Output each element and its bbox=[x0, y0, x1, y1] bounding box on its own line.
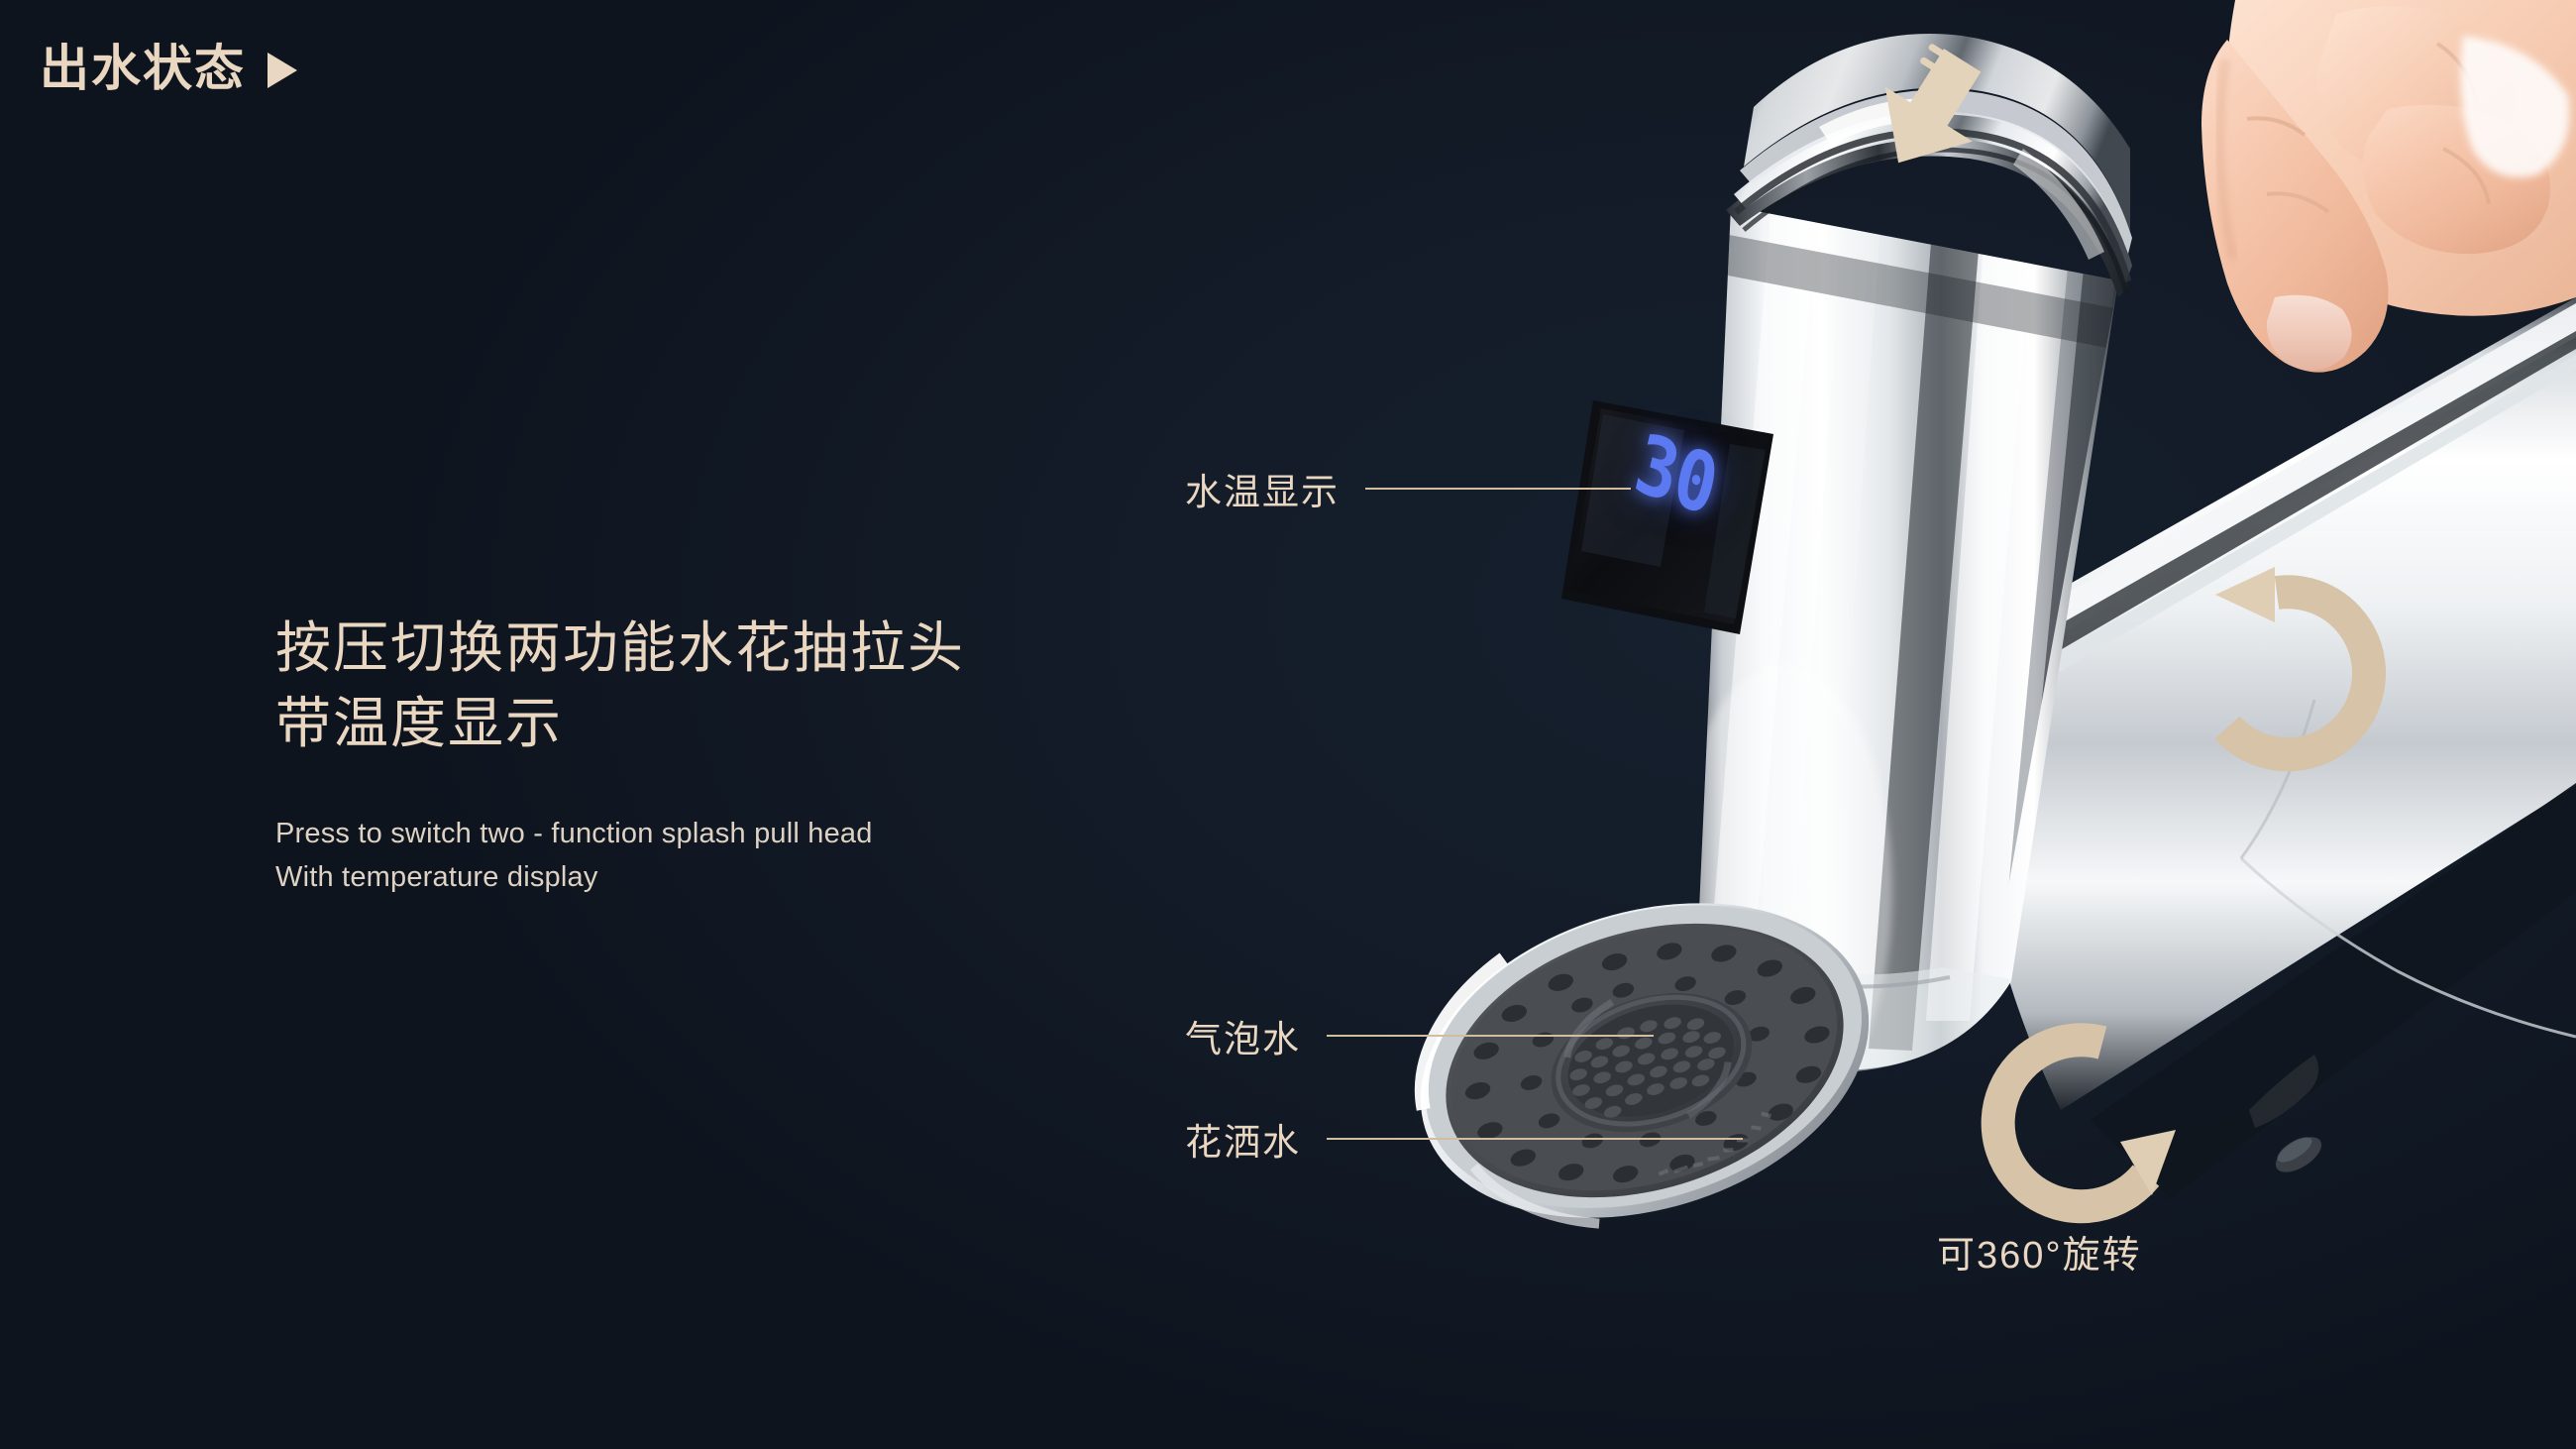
leader-line bbox=[1327, 1035, 1654, 1037]
subhead-en-line2: With temperature display bbox=[275, 855, 1147, 899]
callout-shower-water: 花洒水 bbox=[1185, 1112, 1743, 1166]
leader-line bbox=[1365, 488, 1631, 490]
callout-shower-water-label: 花洒水 bbox=[1185, 1112, 1301, 1166]
play-triangle-icon bbox=[268, 53, 297, 88]
feature-copy-block: 按压切换两功能水花抽拉头 带温度显示 Press to switch two -… bbox=[275, 611, 1147, 899]
product-feature-slide: 30 出水状态 按压切换两功能水花抽拉头 带温度显示 Press to swit… bbox=[0, 0, 2576, 1449]
callout-temperature: 水温显示 bbox=[1185, 462, 1631, 515]
hand-pressing-icon bbox=[2201, 0, 2576, 373]
slide-header: 出水状态 bbox=[40, 44, 297, 93]
leader-line bbox=[1327, 1138, 1743, 1140]
callout-bubble-water-label: 气泡水 bbox=[1185, 1009, 1301, 1062]
headline-cn-line2: 带温度显示 bbox=[275, 686, 1147, 761]
subhead-en-line1: Press to switch two - function splash pu… bbox=[275, 812, 1147, 855]
callout-temperature-label: 水温显示 bbox=[1185, 462, 1340, 515]
callout-bubble-water: 气泡水 bbox=[1185, 1009, 1654, 1062]
led-display-window bbox=[1561, 400, 1773, 634]
rotation-label: 可360°旋转 bbox=[1937, 1224, 2142, 1279]
headline-cn-line1: 按压切换两功能水花抽拉头 bbox=[275, 611, 1147, 686]
page-title: 出水状态 bbox=[40, 44, 246, 93]
